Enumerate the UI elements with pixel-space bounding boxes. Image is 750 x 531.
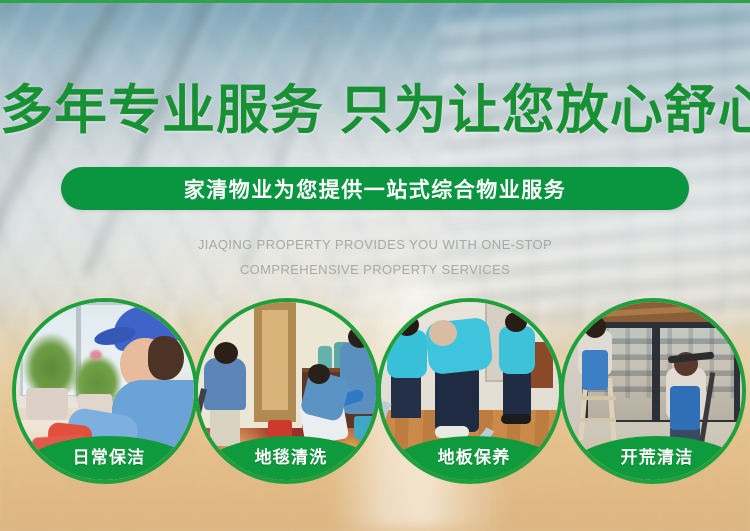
english-subtitle: JIAQING PROPERTY PROVIDES YOU WITH ONE-S… <box>0 232 750 282</box>
top-accent-rule <box>0 0 750 3</box>
service-circle-floor-maintenance[interactable]: 地板保养 <box>377 298 563 484</box>
english-subtitle-line-1: JIAQING PROPERTY PROVIDES YOU WITH ONE-S… <box>0 232 750 257</box>
pill-banner-text: 家清物业为您提供一站式综合物业服务 <box>184 174 567 204</box>
service-label-text: 日常保洁 <box>73 443 146 468</box>
service-circle-post-construction-cleaning[interactable]: 开荒清洁 <box>560 298 746 484</box>
headline-text: 多年专业服务 只为让您放心舒心 <box>0 82 750 140</box>
english-subtitle-line-2: COMPREHENSIVE PROPERTY SERVICES <box>0 257 750 282</box>
promotional-banner: 多年专业服务 只为让您放心舒心 家清物业为您提供一站式综合物业服务 JIAQIN… <box>0 0 750 531</box>
pill-banner: 家清物业为您提供一站式综合物业服务 <box>61 167 689 210</box>
pill-banner-wrapper: 家清物业为您提供一站式综合物业服务 <box>0 167 750 210</box>
service-label-text: 地板保养 <box>438 443 511 468</box>
service-label-text: 开荒清洁 <box>621 443 694 468</box>
service-circle-row: 日常保洁 地毯清洗 <box>0 298 750 488</box>
service-circle-daily-cleaning[interactable]: 日常保洁 <box>12 298 198 484</box>
service-circle-carpet-cleaning[interactable]: 地毯清洗 <box>194 298 380 484</box>
service-label-text: 地毯清洗 <box>255 443 328 468</box>
